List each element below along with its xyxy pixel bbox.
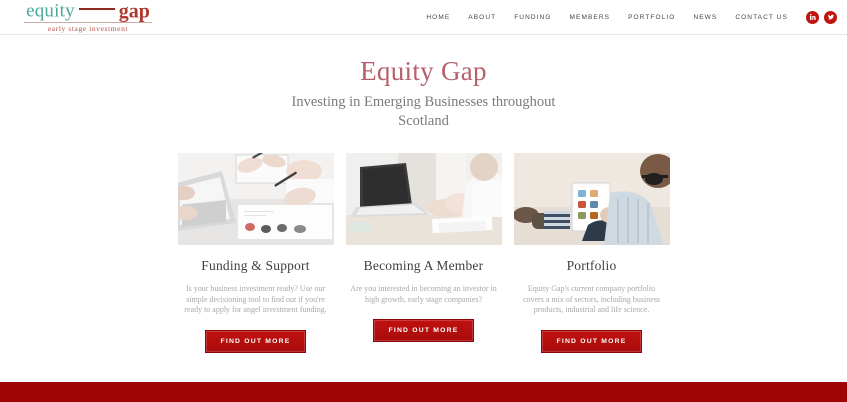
logo-word-gap: gap [119, 0, 150, 22]
nav-item-funding[interactable]: FUNDING [505, 14, 560, 21]
site-footer [0, 382, 847, 402]
hero-section: Equity Gap Investing in Emerging Busines… [0, 35, 847, 131]
main-navigation: HOME ABOUT FUNDING MEMBERS PORTFOLIO NEW… [417, 0, 837, 34]
find-out-more-button[interactable]: FIND OUT MORE [205, 330, 307, 353]
card-title: Funding & Support [178, 258, 334, 274]
card-title: Becoming A Member [346, 258, 502, 274]
site-header: equitygap early stage investment HOME AB… [0, 0, 847, 35]
card-description: Is your business investment ready? Use o… [181, 284, 331, 316]
card-becoming-a-member: Becoming A Member Are you interested in … [346, 153, 502, 353]
card-action-row: FIND OUT MORE [178, 330, 334, 353]
logo-tagline: early stage investment [24, 22, 152, 33]
funding-support-image [178, 153, 334, 245]
page-title: Equity Gap [0, 55, 847, 87]
nav-item-home[interactable]: HOME [417, 14, 459, 21]
nav-item-members[interactable]: MEMBERS [561, 14, 620, 21]
feature-cards: Funding & Support Is your business inves… [0, 153, 847, 353]
card-title: Portfolio [514, 258, 670, 274]
site-logo[interactable]: equitygap early stage investment [18, 1, 158, 33]
card-funding-support: Funding & Support Is your business inves… [178, 153, 334, 353]
card-description: Are you interested in becoming an invest… [349, 284, 499, 305]
portfolio-image [514, 153, 670, 245]
card-action-row: FIND OUT MORE [346, 319, 502, 342]
find-out-more-button[interactable]: FIND OUT MORE [541, 330, 643, 353]
linkedin-icon[interactable] [806, 11, 819, 24]
social-links [806, 11, 837, 24]
twitter-icon[interactable] [824, 11, 837, 24]
card-description: Equity Gap's current company portfolio c… [517, 284, 667, 316]
card-portfolio: Portfolio Equity Gap's current company p… [514, 153, 670, 353]
nav-item-contact-us[interactable]: CONTACT US [726, 14, 797, 21]
logo-wordmark: equitygap [18, 1, 158, 21]
page-subtitle: Investing in Emerging Businesses through… [274, 93, 574, 131]
nav-item-about[interactable]: ABOUT [459, 14, 505, 21]
nav-item-portfolio[interactable]: PORTFOLIO [619, 14, 684, 21]
nav-item-news[interactable]: NEWS [684, 14, 726, 21]
find-out-more-button[interactable]: FIND OUT MORE [373, 319, 475, 342]
becoming-a-member-image [346, 153, 502, 245]
logo-word-equity: equity [26, 0, 75, 21]
logo-dash-divider [79, 8, 115, 10]
card-action-row: FIND OUT MORE [514, 330, 670, 353]
